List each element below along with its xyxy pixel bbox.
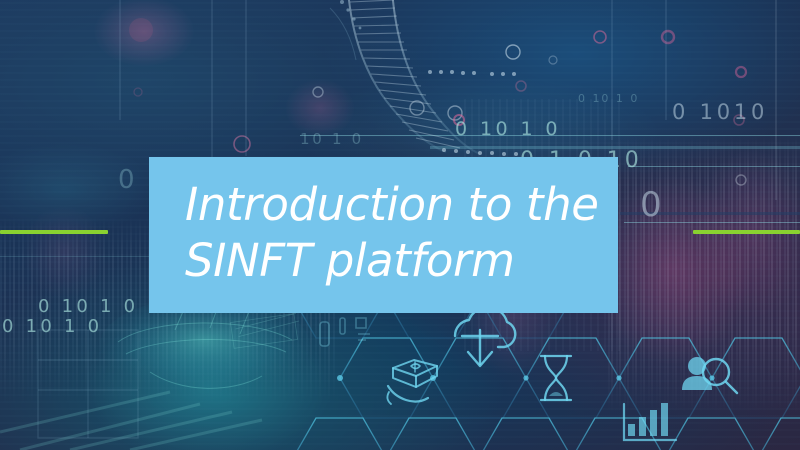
binary-cluster-mid-center: 0 10 1 0	[455, 118, 561, 140]
title-slide: 0 10 1 0 0 1010 0 10 1 0 10 1 0 0 1 0 10…	[0, 0, 800, 450]
accent-line-right	[693, 230, 800, 234]
binary-cluster-bottom-left-1: 0 10 1 0	[38, 296, 138, 317]
title-line-2: SINFT platform	[185, 233, 618, 289]
title-line-1: Introduction to the	[185, 177, 618, 233]
binary-big-zero-right: 0	[640, 185, 668, 225]
binary-cluster-top-right-small: 0 10 1 0	[578, 92, 639, 105]
dotted-connectors	[428, 70, 518, 156]
title-card: Introduction to the SINFT platform	[149, 157, 618, 313]
cloud-download-icon	[455, 307, 515, 366]
bar-chart-icon	[624, 403, 676, 440]
floor-light-streaks	[0, 392, 262, 450]
circuit-rectangles	[320, 318, 370, 346]
binary-cluster-bottom-left-2: 0 10 1 0	[2, 316, 102, 337]
binary-cluster-top-right-large: 0 1010	[672, 100, 768, 124]
binary-cluster-mid-left: 10 1 0	[300, 130, 364, 148]
hourglass-icon	[541, 356, 571, 400]
user-search-icon	[682, 357, 737, 393]
binary-big-zero-left: 0	[118, 165, 139, 195]
hand-holding-money-icon	[387, 360, 437, 404]
accent-line-left	[0, 230, 108, 234]
